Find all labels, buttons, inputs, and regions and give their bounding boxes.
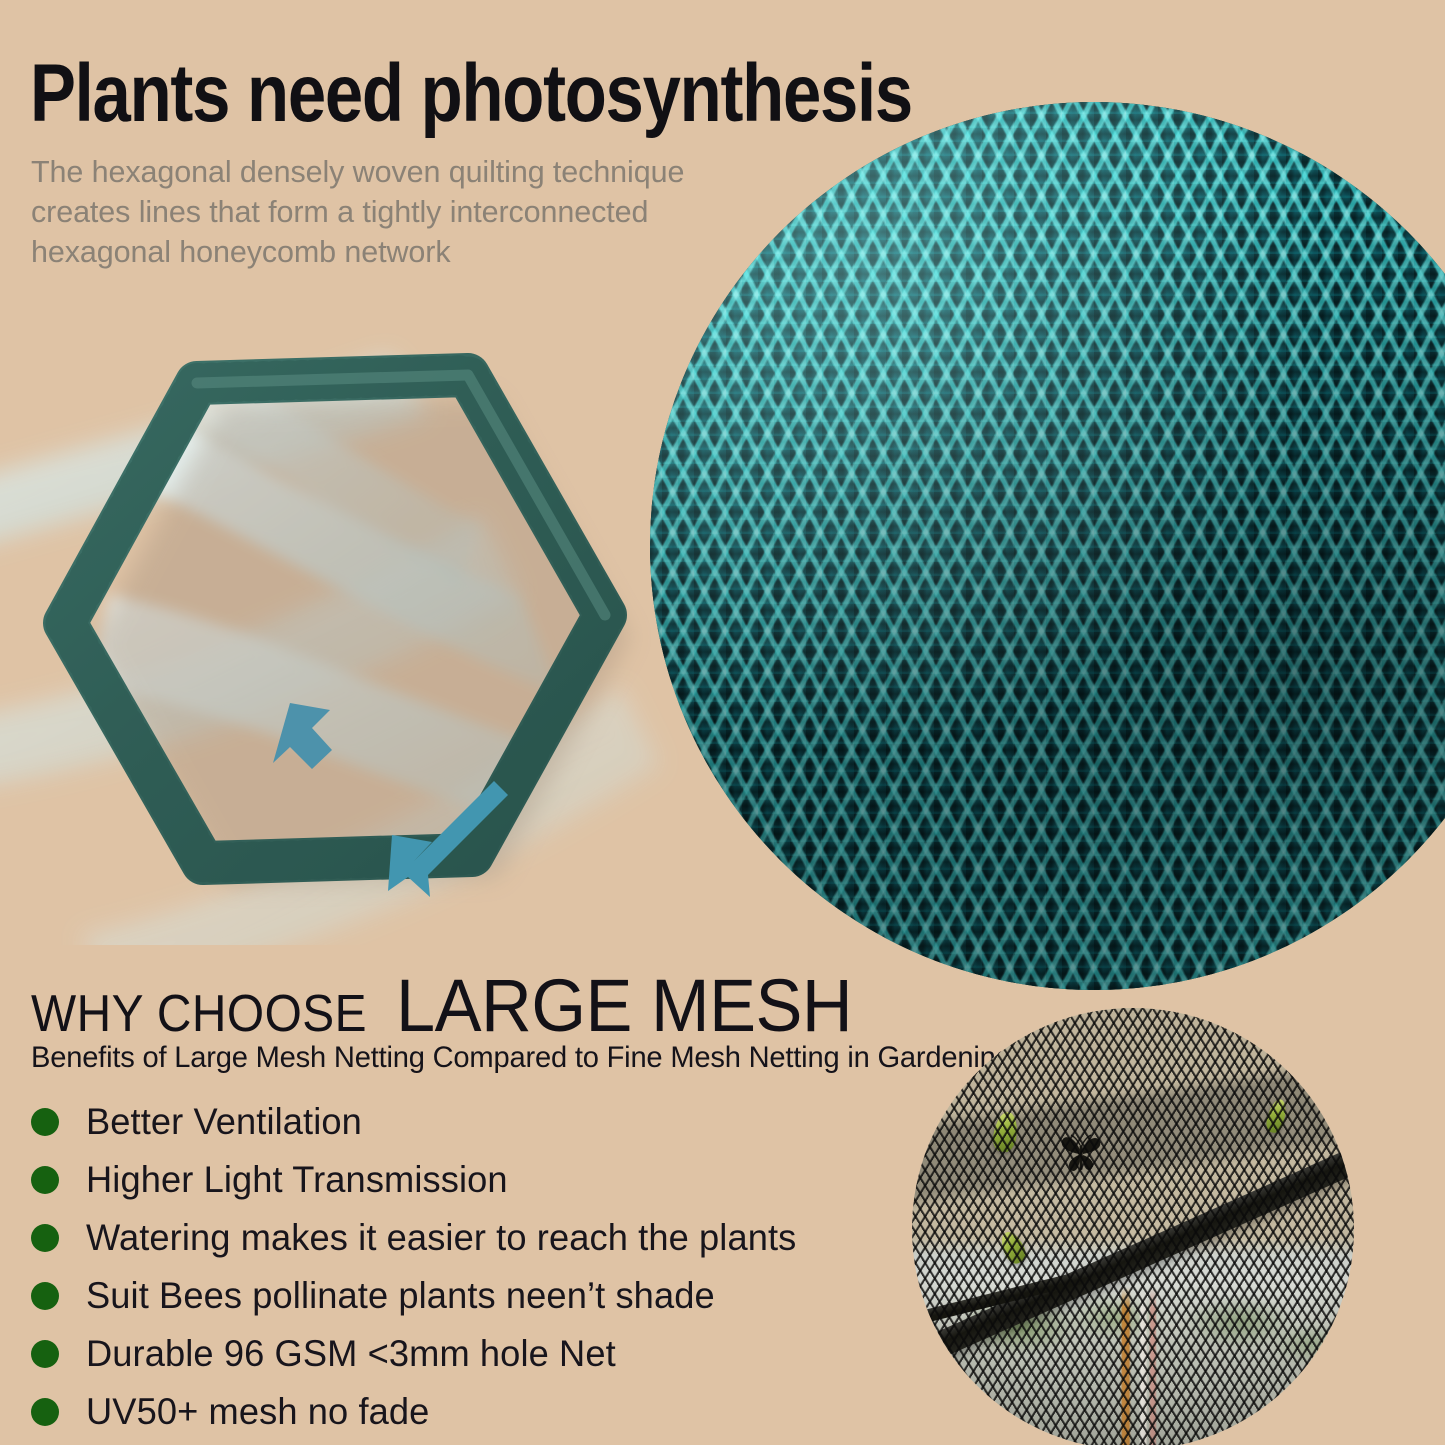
list-item: Higher Light Transmission — [31, 1151, 891, 1209]
bullet-dot-icon — [31, 1398, 59, 1426]
list-item: Better Ventilation — [31, 1093, 891, 1151]
benefits-list: Better Ventilation Higher Light Transmis… — [31, 1093, 891, 1441]
section-heading-prefix: WHY CHOOSE — [31, 984, 367, 1044]
photo-vignette — [912, 1008, 1354, 1445]
garden-netting-photo-circle — [912, 1008, 1354, 1445]
product-infographic: Plants need photosynthesis The hexagonal… — [0, 0, 1445, 1445]
page-title: Plants need photosynthesis — [30, 52, 786, 136]
section-heading: WHY CHOOSELARGE MESH — [31, 963, 876, 1048]
list-item-label: UV50+ mesh no fade — [86, 1392, 429, 1432]
section-subtitle: Benefits of Large Mesh Netting Compared … — [31, 1041, 1012, 1075]
list-item-label: Better Ventilation — [86, 1102, 362, 1142]
bullet-dot-icon — [31, 1282, 59, 1310]
list-item: Durable 96 GSM <3mm hole Net — [31, 1325, 891, 1383]
list-item: Suit Bees pollinate plants neen’t shade — [31, 1267, 891, 1325]
bullet-dot-icon — [31, 1340, 59, 1368]
list-item: UV50+ mesh no fade — [31, 1383, 891, 1441]
page-subtitle: The hexagonal densely woven quilting tec… — [31, 152, 751, 272]
section-heading-emphasis: LARGE MESH — [396, 963, 852, 1048]
bullet-dot-icon — [31, 1224, 59, 1252]
mesh-lighting-overlay — [650, 102, 1445, 990]
list-item: Watering makes it easier to reach the pl… — [31, 1209, 891, 1267]
list-item-label: Durable 96 GSM <3mm hole Net — [86, 1334, 616, 1374]
list-item-label: Watering makes it easier to reach the pl… — [86, 1218, 796, 1258]
list-item-label: Higher Light Transmission — [86, 1160, 508, 1200]
hexagon-airflow-diagram — [0, 295, 680, 945]
mesh-fabric-closeup-circle — [650, 102, 1445, 990]
list-item-label: Suit Bees pollinate plants neen’t shade — [86, 1276, 715, 1316]
bullet-dot-icon — [31, 1166, 59, 1194]
bullet-dot-icon — [31, 1108, 59, 1136]
